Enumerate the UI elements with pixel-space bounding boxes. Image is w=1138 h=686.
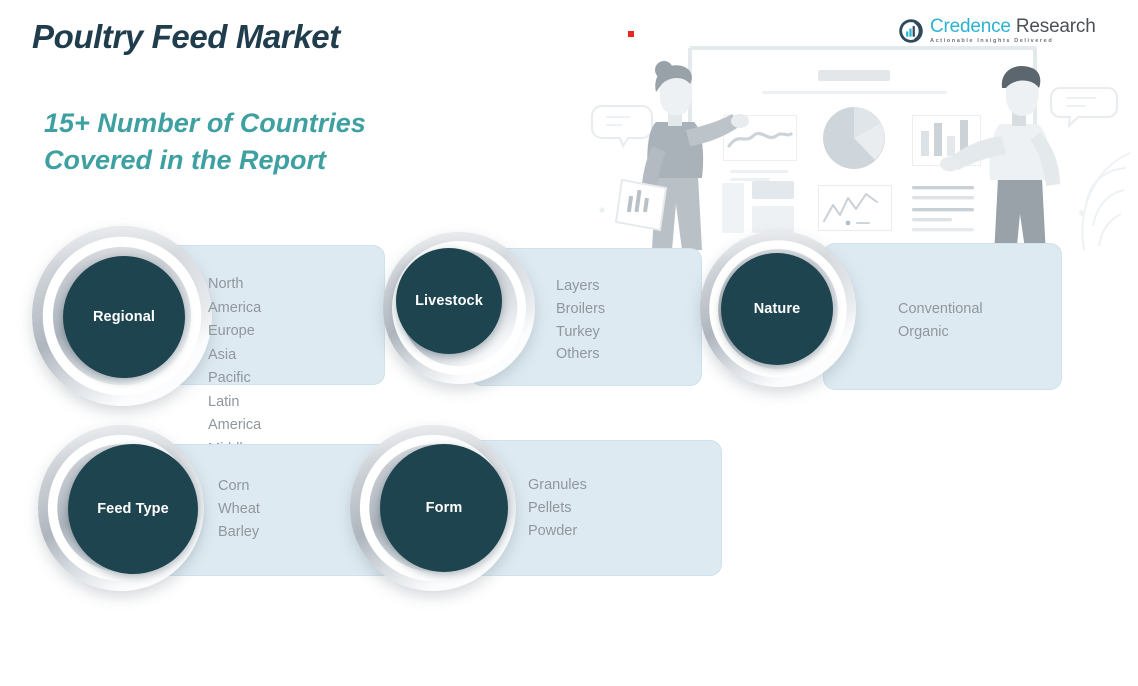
speech-bubble-left	[592, 106, 652, 146]
trend-chart-card	[819, 186, 892, 231]
segment-items-feed-type: Corn Wheat Barley	[218, 475, 260, 544]
segment-disc-livestock[interactable]: Livestock	[396, 248, 502, 354]
segment-label-regional: Regional	[93, 310, 155, 325]
dot-decoration-right	[1079, 210, 1085, 216]
speech-bubble-right	[1051, 88, 1117, 126]
page-subtitle: 15+ Number of Countries Covered in the R…	[44, 105, 366, 179]
infographic-canvas: Poultry Feed Market 15+ Number of Countr…	[0, 0, 1138, 686]
segment-label-form: Form	[426, 501, 463, 516]
page-title: Poultry Feed Market	[32, 18, 340, 56]
segment-label-feed-type: Feed Type	[97, 502, 169, 517]
segment-items-livestock: Layers Broilers Turkey Others	[556, 275, 605, 366]
segment-label-livestock: Livestock	[415, 294, 483, 309]
board-block-b	[752, 206, 794, 233]
segment-disc-form[interactable]: Form	[380, 444, 508, 572]
dot-decoration-left	[599, 207, 604, 212]
segment-disc-regional[interactable]: Regional	[63, 256, 185, 378]
segment-items-nature: Conventional Organic	[898, 298, 983, 344]
board-block-tall	[722, 183, 744, 233]
leaf-decoration	[1083, 153, 1130, 250]
handheld-report-paper	[616, 180, 666, 230]
board-block-a	[752, 181, 794, 199]
segment-disc-feed-type[interactable]: Feed Type	[68, 444, 198, 574]
board-subtitle-bar	[762, 91, 947, 94]
segment-items-form: Granules Pellets Powder	[528, 474, 587, 543]
board-title-bar	[818, 70, 890, 81]
segment-disc-nature[interactable]: Nature	[721, 253, 833, 365]
pie-chart	[823, 107, 885, 169]
segment-label-nature: Nature	[754, 302, 801, 317]
